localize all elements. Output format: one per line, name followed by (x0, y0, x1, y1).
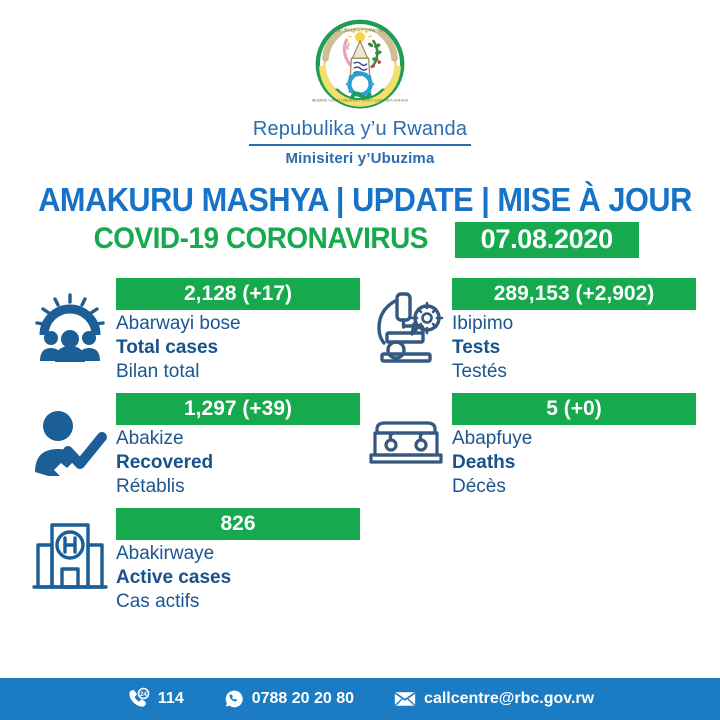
rwanda-coat-of-arms-icon: REPUBULIKA Y'U RWANDA UBUMWE \u00b7 UMUR… (312, 16, 408, 114)
stat-value: 826 (116, 508, 360, 540)
stat-active-cases: 826 Abakirwaye Active cases Cas actifs (24, 506, 360, 621)
stat-label-french: Rétablis (116, 475, 360, 499)
stat-label-english: Tests (452, 336, 696, 360)
stat-empty-cell (360, 506, 696, 621)
phone-24h-icon: 24 (126, 687, 150, 711)
stat-label-kinyarwanda: Ibipimo (452, 310, 696, 336)
stat-text: 289,153 (+2,902) Ibipimo Tests Testés (452, 276, 696, 385)
stat-label-french: Décès (452, 475, 696, 499)
footer-whatsapp-text: 0788 20 20 80 (252, 690, 354, 708)
stat-label-french: Cas actifs (116, 590, 360, 614)
hospital-icon (24, 506, 116, 606)
stat-label-english: Total cases (116, 336, 360, 360)
stat-label-english: Deaths (452, 451, 696, 475)
stat-label-french: Testés (452, 360, 696, 384)
stats-row-2: 1,297 (+39) Abakize Recovered Rétablis (24, 391, 696, 506)
stats-grid: 2,128 (+17) Abarwayi bose Total cases Bi… (0, 276, 720, 621)
subline: COVID-19 CORONAVIRUS 07.08.2020 (14, 222, 706, 258)
stat-total-cases: 2,128 (+17) Abarwayi bose Total cases Bi… (24, 276, 360, 391)
country-name: Repubulika y’u Rwanda (249, 118, 471, 146)
title-block: AMAKURU MASHYA | UPDATE | MISE À JOUR CO… (0, 183, 720, 258)
email-icon (394, 691, 416, 707)
stat-text: 826 Abakirwaye Active cases Cas actifs (116, 506, 360, 615)
stats-row-3: 826 Abakirwaye Active cases Cas actifs (24, 506, 696, 621)
stat-label-kinyarwanda: Abarwayi bose (116, 310, 360, 336)
svg-text:24: 24 (140, 692, 147, 698)
stat-text: 2,128 (+17) Abarwayi bose Total cases Bi… (116, 276, 360, 385)
stat-label-kinyarwanda: Abapfuye (452, 425, 696, 451)
stat-label-kinyarwanda: Abakirwaye (116, 540, 360, 566)
footer-hotline[interactable]: 24 114 (126, 687, 184, 711)
whatsapp-icon (224, 689, 244, 709)
stat-label-kinyarwanda: Abakize (116, 425, 360, 451)
stat-label-english: Active cases (116, 566, 360, 590)
stats-row-1: 2,128 (+17) Abarwayi bose Total cases Bi… (24, 276, 696, 391)
stat-label-english: Recovered (116, 451, 360, 475)
footer-email-text: callcentre@rbc.gov.rw (424, 690, 594, 708)
stat-deaths: 5 (+0) Abapfuye Deaths Décès (360, 391, 696, 506)
stat-label-french: Bilan total (116, 360, 360, 384)
footer-email[interactable]: callcentre@rbc.gov.rw (394, 690, 594, 708)
footer-hotline-text: 114 (158, 690, 184, 708)
disease-label: COVID-19 CORONAVIRUS (94, 222, 428, 258)
ministry-name: Minisiteri y’Ubuzima (285, 150, 434, 167)
stat-recovered: 1,297 (+39) Abakize Recovered Rétablis (24, 391, 360, 506)
microscope-icon (360, 276, 452, 376)
headline: AMAKURU MASHYA | UPDATE | MISE À JOUR (38, 183, 682, 218)
person-check-icon (24, 391, 116, 491)
coffin-icon (360, 391, 452, 491)
stat-text: 1,297 (+39) Abakize Recovered Rétablis (116, 391, 360, 500)
date-badge: 07.08.2020 (455, 222, 639, 258)
stat-value: 1,297 (+39) (116, 393, 360, 425)
svg-text:UBUMWE \u00b7 UMURIMO \u00b7 G: UBUMWE \u00b7 UMURIMO \u00b7 GUKUNDA IGI… (312, 98, 408, 102)
footer-whatsapp[interactable]: 0788 20 20 80 (224, 689, 354, 709)
contact-footer: 24 114 0788 20 20 80 call (0, 678, 720, 720)
svg-text:REPUBULIKA Y'U RWANDA: REPUBULIKA Y'U RWANDA (333, 27, 387, 32)
stat-tests: 289,153 (+2,902) Ibipimo Tests Testés (360, 276, 696, 391)
stat-text: 5 (+0) Abapfuye Deaths Décès (452, 391, 696, 500)
header: REPUBULIKA Y'U RWANDA UBUMWE \u00b7 UMUR… (0, 0, 720, 167)
stat-value: 2,128 (+17) (116, 278, 360, 310)
stat-value: 289,153 (+2,902) (452, 278, 696, 310)
stat-value: 5 (+0) (452, 393, 696, 425)
virus-people-icon (24, 276, 116, 376)
infographic-page: REPUBULIKA Y'U RWANDA UBUMWE \u00b7 UMUR… (0, 0, 720, 720)
